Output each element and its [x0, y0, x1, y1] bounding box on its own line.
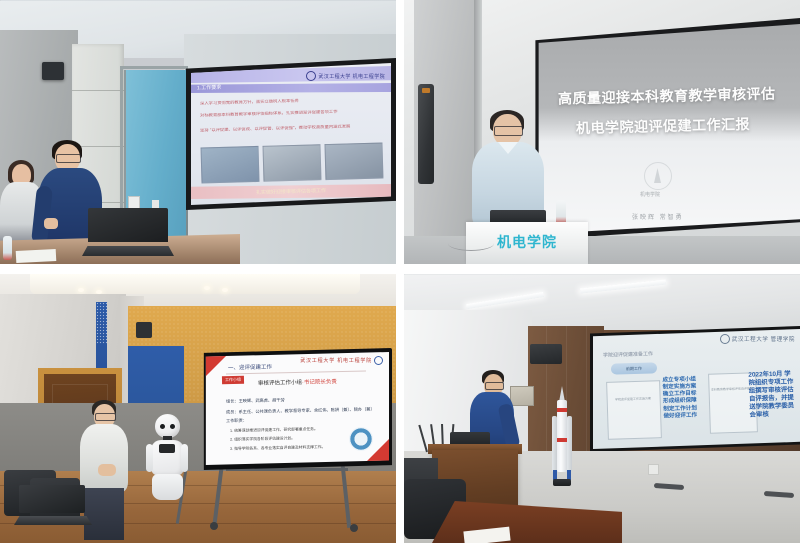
logo-ring-icon: [374, 356, 383, 365]
rocket-stand: [553, 479, 571, 486]
slide-numbered-3: 3. 指导学院各系、各专业落实自评自建及材料支撑工作。: [230, 445, 325, 452]
laptop-base: [82, 246, 174, 256]
rocket-model: [552, 386, 572, 486]
photo-collage: 武汉工程大学 机电工程学院 1.工作要求 深入学习贯彻党的教育方针，落实立德树人…: [0, 0, 800, 543]
slide-subtitle-accent: ·书记院长负责: [302, 379, 337, 386]
slide-photo-strip: [201, 142, 384, 183]
presenter-glasses-icon: [485, 382, 504, 390]
slide-photo-1: [201, 146, 260, 184]
blue-column-texture: [96, 302, 107, 344]
photo-top-right: 高质量迎接本科教育教学审核评估 机电学院迎评促建工作汇报 机电学院 张映辉 常智…: [404, 0, 800, 264]
column-speaker-icon: [418, 84, 434, 184]
speaker-indicator: [422, 88, 430, 93]
slide-photo-2: [263, 144, 322, 182]
logo-ring-icon: [306, 71, 316, 81]
photo-bottom-left: 武汉工程大学 机电工程学院 一、迎评促建工作 工作小组 审核评估工作小组·书记院…: [0, 274, 396, 543]
projection-screen: 武汉工程大学 管理学院 学院迎评促建准备工作 前期工作 学院迎评促建工作实施方案…: [593, 329, 800, 449]
slide-header: 一、迎评促建工作: [228, 363, 272, 372]
slide-right-column: 2022年10月 学院组织专项工作组撰写审核评估自评报告，并提送学院教学委员会审…: [748, 370, 795, 420]
slide-title-line-2: 机电学院迎评促建工作汇报: [576, 114, 750, 138]
slide-organization: 机电学院: [640, 191, 660, 198]
university-logo: 武汉工程大学 机电工程学院: [300, 356, 383, 365]
slide-header-text: 1.工作要求: [197, 84, 221, 92]
wall-socket: [648, 464, 659, 475]
paper-document: [16, 249, 57, 263]
slide-bullet-1: 组长：王映辉、武高虎、胡干劳: [226, 397, 285, 404]
slide-numbered-2: 2. 组织落实学院各阶段评估建设计划。: [230, 436, 295, 442]
laptop-base: [14, 516, 92, 525]
wall-speaker-icon: [530, 344, 562, 364]
ceiling-speaker-icon: [42, 62, 64, 80]
slide-subtitle: 审核评估工作小组·书记院长负责: [258, 377, 337, 387]
blue-item-6: 做好迎评工作: [663, 412, 697, 420]
water-bottle: [3, 236, 12, 260]
slide-photo-3: [324, 142, 383, 180]
slide-section-pill-label: 前期工作: [626, 365, 642, 371]
projection-screen: 高质量迎接本科教育教学审核评估 机电学院迎评促建工作汇报 机电学院 张映辉 常智…: [536, 24, 800, 234]
slide-section-pill: 前期工作: [611, 362, 657, 374]
humanoid-robot: [148, 414, 186, 500]
slide-footer-text: 扎实做好迎接审核评估各项工作: [256, 187, 326, 196]
logo-ring-icon: [720, 334, 730, 344]
document-thumb-left: [606, 380, 662, 440]
slide-bullet-3: 工作职责：: [226, 418, 247, 424]
presenter-hand: [44, 218, 58, 229]
university-logo-text: 武汉工程大学 机电工程学院: [300, 357, 372, 364]
photo-bottom-right: 武汉工程大学 管理学院 学院迎评促建准备工作 前期工作 学院迎评促建工作实施方案…: [404, 274, 800, 543]
university-logo: 武汉工程大学 机电工程学院: [306, 71, 385, 81]
slide-seal-icon: [349, 427, 373, 451]
laptop: [82, 208, 170, 256]
laptop: [14, 485, 86, 525]
presenter-torso: [80, 424, 128, 492]
presenter-glasses-icon: [95, 413, 116, 421]
slide-header: 学院迎评促建准备工作: [603, 350, 653, 359]
university-logo-text: 武汉工程大学 管理学院: [732, 335, 795, 343]
wall-plaque: [510, 386, 534, 406]
college-emblem-icon: [644, 162, 672, 190]
slide-body-line-3: 坚持 "以评促建、以评促改、以评促管、以评促强"，推动学校高质量内涵式发展: [200, 123, 384, 133]
university-logo: 武汉工程大学 管理学院: [720, 334, 795, 344]
slide-body-line-1: 深入学习贯彻党的教育方针，落实立德树人根本任务: [200, 96, 384, 106]
projection-screen: 武汉工程大学 机电工程学院 1.工作要求 深入学习贯彻党的教育方针，落实立德树人…: [191, 63, 391, 205]
slide-title-line-1: 高质量迎接本科教育教学审核评估: [558, 83, 776, 108]
slide-numbered-1: 1. 统筹谋划推进迎评促建工作，研究部署重点任务。: [230, 427, 318, 434]
robot-chest-panel: [159, 444, 175, 453]
speaker-glasses-icon: [494, 126, 523, 136]
presenter-trousers: [84, 488, 124, 540]
photo-top-left: 武汉工程大学 机电工程学院 1.工作要求 深入学习贯彻党的教育方针，落实立德树人…: [0, 0, 396, 264]
slide-footer-banner: 扎实做好迎接审核评估各项工作: [191, 184, 391, 199]
university-logo-text: 武汉工程大学 机电工程学院: [318, 73, 385, 80]
laptop-lid: [19, 485, 85, 513]
slide-blue-column: 成立专项小组 制定实施方案 确立工作目标 形成组织保障 制定工作计划 做好迎评工…: [662, 376, 697, 420]
slide-body-line-2: 对标教育部本科教育教学审核评估指标体系，扎实推进迎评促建各项工作: [200, 108, 384, 118]
robot-head: [155, 414, 180, 438]
presenter-glasses-icon: [56, 154, 81, 163]
led-display: 武汉工程大学 机电工程学院 一、迎评促建工作 工作小组 审核评估工作小组·书记院…: [204, 352, 389, 465]
laptop-lid: [88, 208, 168, 242]
slide-tag: 工作小组: [222, 376, 244, 384]
presenter-hands: [98, 464, 116, 476]
slide-subtitle-plain: 审核评估工作小组: [258, 380, 302, 387]
slide-bullet-2: 成员：系主任、公共课负责人、教学督导专家、余红伟、陈妍（兼）、院办（兼）: [226, 406, 375, 415]
slide-presenters: 张映辉 常智勇: [632, 212, 684, 221]
power-cable: [448, 236, 494, 251]
robot-base: [152, 474, 183, 500]
wall-speaker-icon: [136, 322, 152, 338]
